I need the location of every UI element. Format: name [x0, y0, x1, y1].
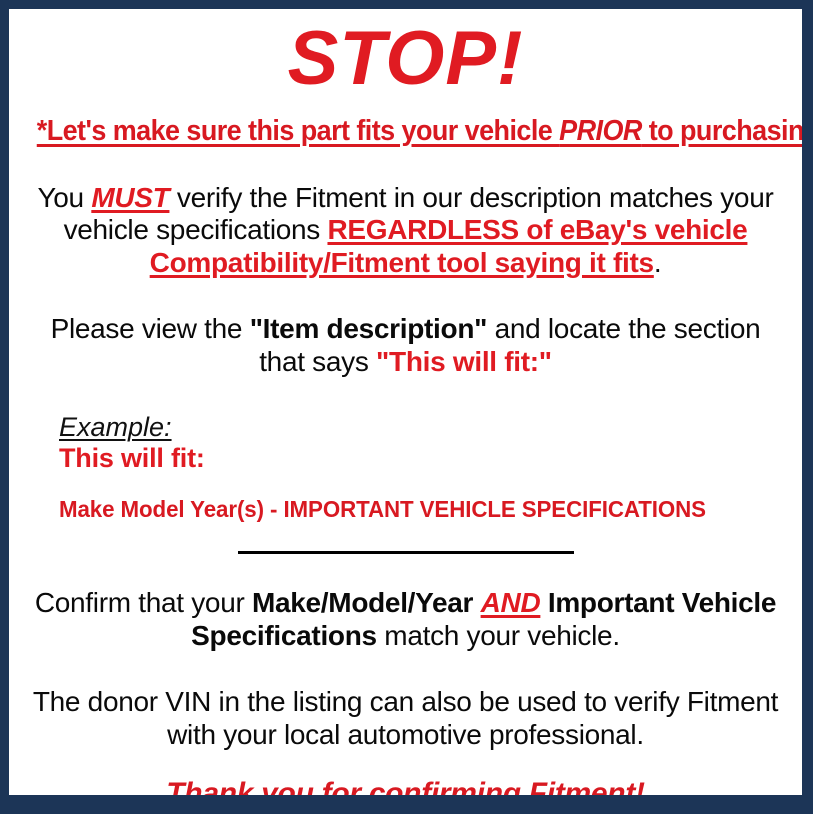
notice-card: STOP! *Let's make sure this part fits yo… [9, 9, 802, 795]
example-spec-line: Make Model Year(s) - IMPORTANT VEHICLE S… [59, 496, 780, 523]
example-fit-heading: This will fit: [59, 443, 802, 474]
horizontal-divider [238, 551, 574, 554]
example-label: Example: [59, 412, 172, 443]
page-title: STOP! [9, 9, 802, 97]
must-text-part1: You [37, 182, 91, 213]
must-emphasis: MUST [91, 182, 169, 213]
example-label-row: Example: [59, 412, 802, 443]
subtitle-underline-group: *Let's make sure this part fits your veh… [37, 115, 802, 147]
example-block: Example: This will fit: Make Model Year(… [9, 412, 802, 523]
view-text-part1: Please view the [51, 313, 250, 344]
item-description-quote: "Item description" [250, 313, 487, 344]
subtitle-emphasis-prior: PRIOR [559, 115, 642, 147]
subtitle-text-before: *Let's make sure this part fits your veh… [37, 115, 559, 147]
must-verify-paragraph: You MUST verify the Fitment in our descr… [9, 182, 802, 279]
fitment-notice-banner: STOP! *Let's make sure this part fits yo… [0, 0, 813, 814]
must-text-period: . [654, 247, 661, 278]
confirm-text-part1: Confirm that your [35, 587, 252, 618]
closing-thank-you: Thank you for confirming Fitment! [9, 777, 802, 795]
make-model-year-emphasis: Make/Model/Year [252, 587, 473, 618]
and-emphasis: AND [481, 587, 541, 618]
confirm-text-part2: match your vehicle. [377, 620, 620, 651]
confirm-paragraph: Confirm that your Make/Model/Year AND Im… [9, 587, 802, 652]
subtitle-text-after: to purchasing* [642, 115, 802, 147]
view-description-paragraph: Please view the "Item description" and l… [9, 313, 802, 378]
donor-vin-paragraph: The donor VIN in the listing can also be… [9, 686, 802, 751]
divider-row [9, 543, 802, 555]
this-will-fit-quote: "This will fit:" [376, 346, 552, 377]
subtitle-line: *Let's make sure this part fits your veh… [37, 115, 774, 148]
